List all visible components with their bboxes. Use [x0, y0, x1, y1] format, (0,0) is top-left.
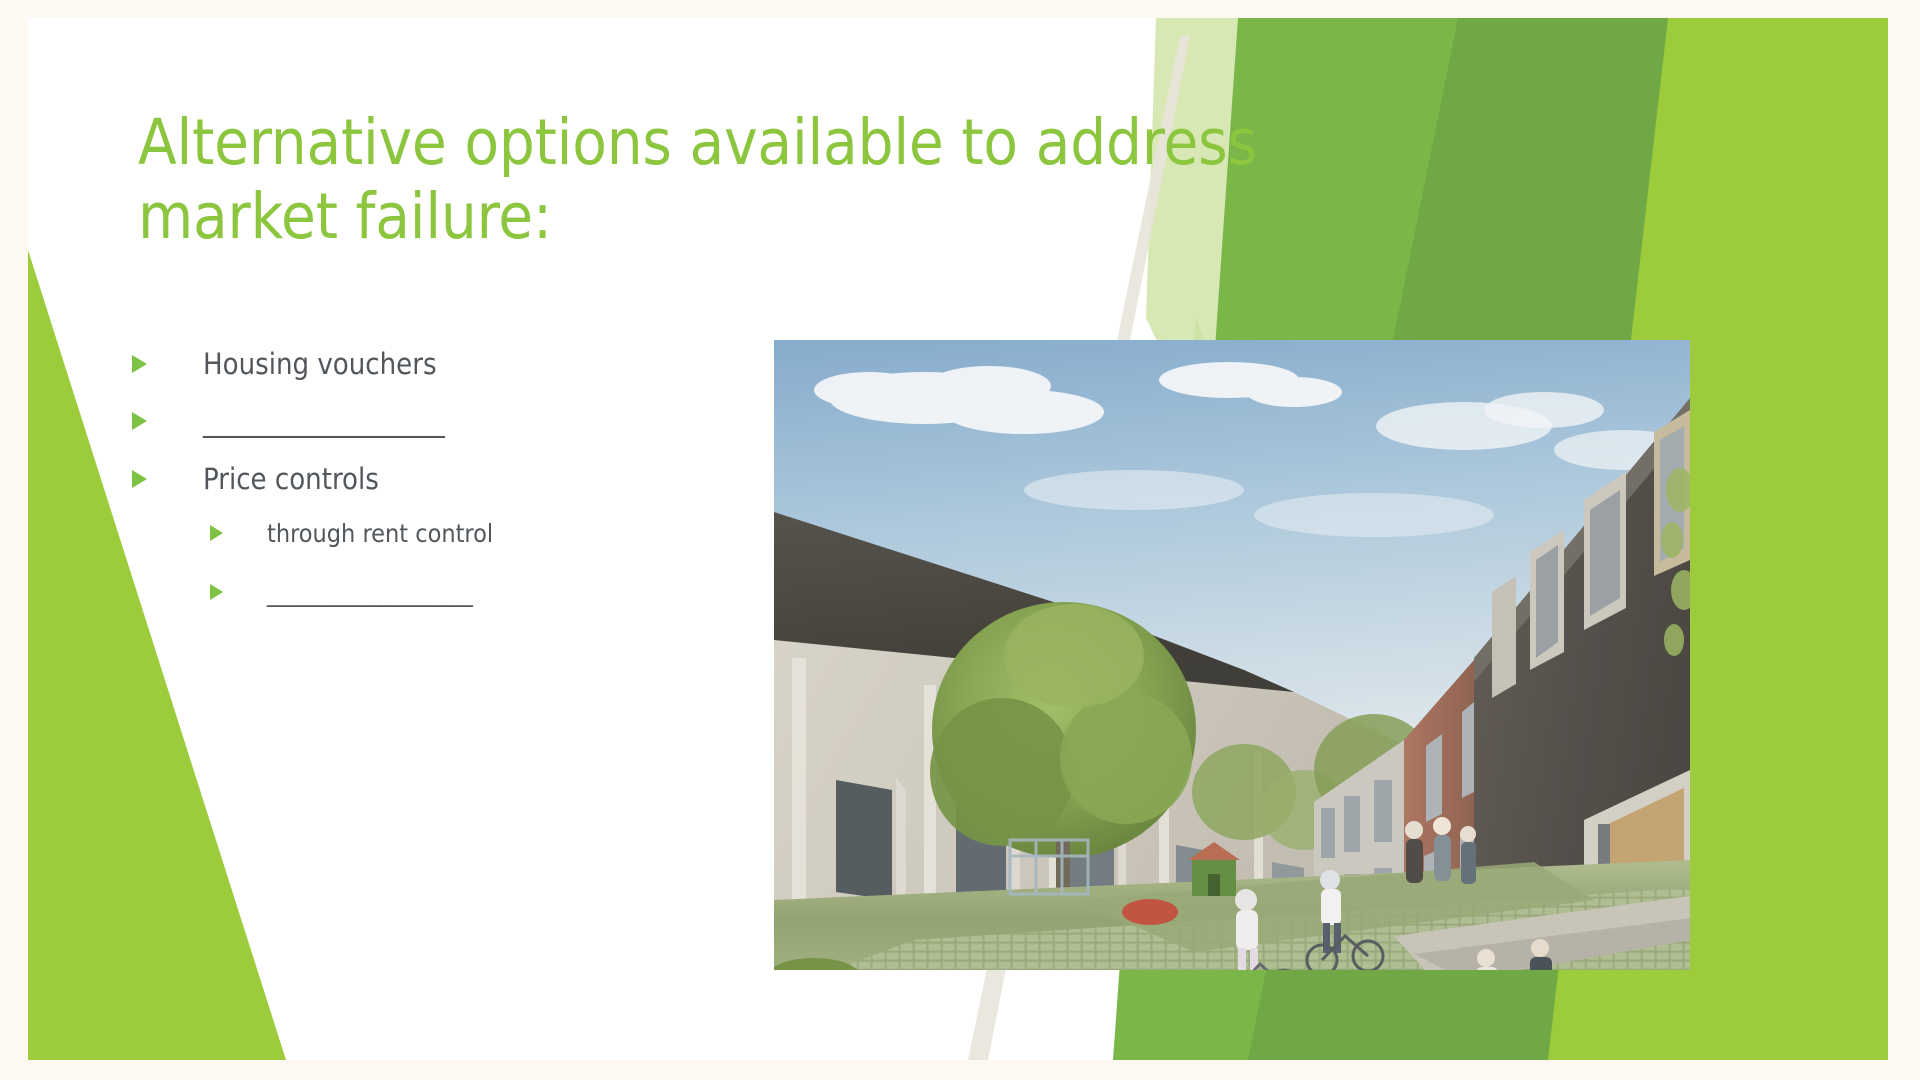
list-item: through rent control [210, 520, 722, 549]
slide-stage: Alternative options available to address… [0, 0, 1920, 1080]
list-item-label: ____________________ [203, 405, 444, 438]
list-item-label: ____________________ [267, 579, 472, 608]
list-item-label: Price controls [203, 463, 379, 496]
housing-street-rendering [774, 340, 1690, 970]
page-title: Alternative options available to address… [138, 106, 1428, 253]
list-item-label: through rent control [267, 520, 493, 549]
triangle-bullet-icon [210, 525, 223, 541]
list-item: ____________________ [210, 579, 722, 608]
triangle-bullet-icon [132, 355, 147, 373]
list-item-label: Housing vouchers [203, 348, 437, 381]
triangle-bullet-icon [132, 412, 147, 430]
triangle-bullet-icon [210, 584, 223, 600]
list-item: ____________________ [132, 405, 722, 438]
list-item: Price controls [132, 463, 722, 496]
triangle-bullet-icon [132, 470, 147, 488]
photo-light-overlay [774, 340, 1690, 970]
slide-canvas: Alternative options available to address… [28, 18, 1888, 1060]
list-item: Housing vouchers [132, 348, 722, 381]
bullet-list: Housing vouchers ____________________ Pr… [132, 348, 722, 638]
